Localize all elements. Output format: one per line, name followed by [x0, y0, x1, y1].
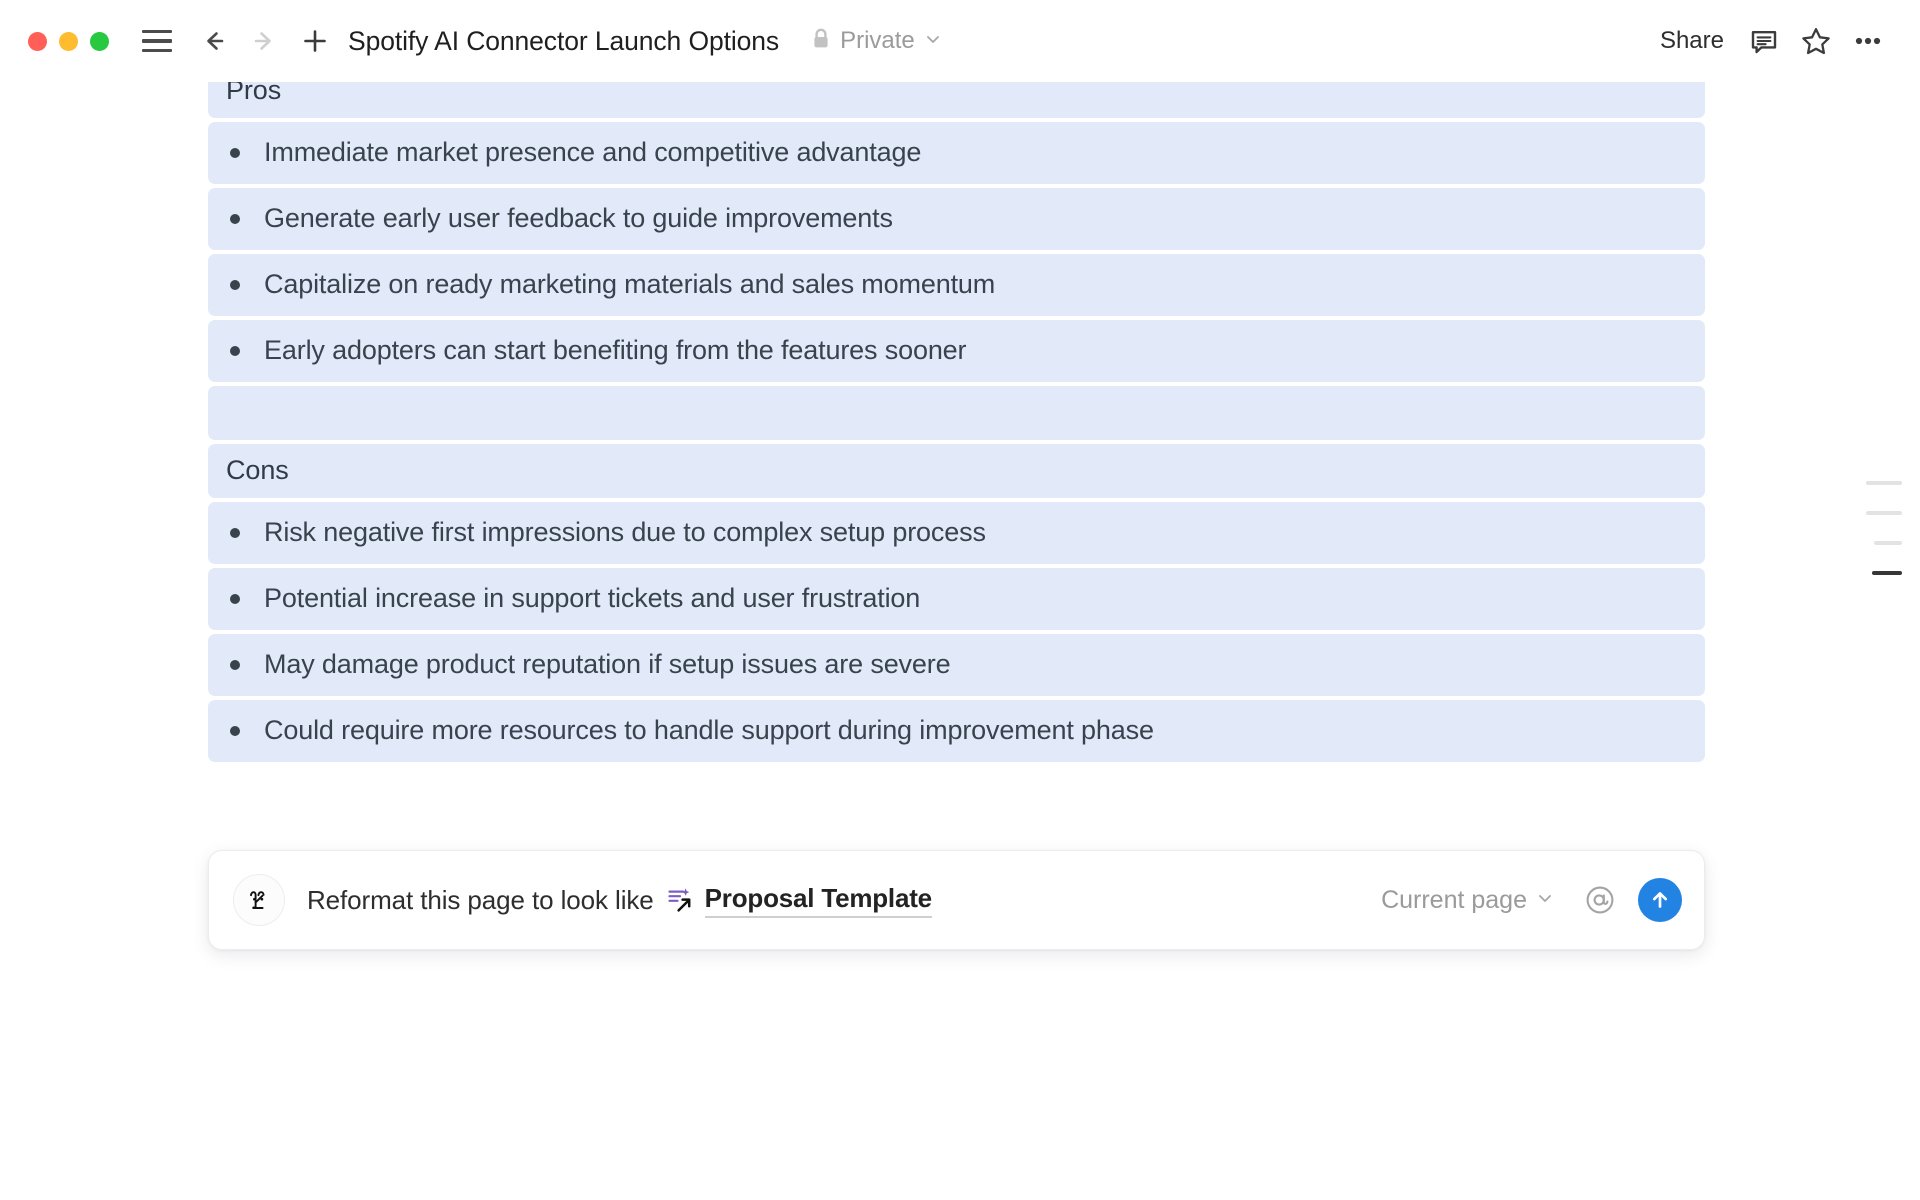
empty-block[interactable] — [208, 386, 1705, 440]
titlebar-actions: Share — [1646, 15, 1894, 67]
list-item-label: Generate early user feedback to guide im… — [264, 203, 893, 234]
mention-proposal-template[interactable]: Proposal Template — [705, 883, 932, 918]
bullet-icon — [230, 346, 240, 356]
at-mention-icon[interactable] — [1576, 876, 1624, 924]
list-item-label: Potential increase in support tickets an… — [264, 583, 920, 614]
document-scroll-area[interactable]: Pros Immediate market presence and compe… — [0, 82, 1920, 1200]
list-item-label: Could require more resources to handle s… — [264, 715, 1154, 746]
list-item[interactable]: Risk negative first impressions due to c… — [208, 502, 1705, 564]
bullet-icon — [230, 660, 240, 670]
list-item[interactable]: Could require more resources to handle s… — [208, 700, 1705, 762]
chevron-down-icon — [1536, 889, 1554, 912]
share-button[interactable]: Share — [1646, 21, 1738, 61]
app-window: Spotify AI Connector Launch Options Priv… — [0, 0, 1920, 1200]
minimap-bar — [1866, 511, 1902, 515]
navigation-controls — [196, 23, 282, 59]
comment-icon[interactable] — [1738, 15, 1790, 67]
list-item[interactable]: Potential increase in support tickets an… — [208, 568, 1705, 630]
maximize-window-button[interactable] — [90, 32, 109, 51]
bullet-icon — [230, 280, 240, 290]
list-item[interactable]: Capitalize on ready marketing materials … — [208, 254, 1705, 316]
minimap-bar — [1866, 481, 1902, 485]
ai-prompt-input[interactable]: Reformat this page to look like Proposal… — [307, 883, 1375, 918]
ai-assistant-face-icon — [233, 874, 285, 926]
minimap-row[interactable] — [1858, 528, 1902, 558]
list-item[interactable]: Early adopters can start benefiting from… — [208, 320, 1705, 382]
heading-text: Pros — [226, 82, 281, 106]
arrow-right-icon[interactable] — [246, 23, 282, 59]
close-window-button[interactable] — [28, 32, 47, 51]
list-item-label: Risk negative first impressions due to c… — [264, 517, 986, 548]
heading-text: Cons — [226, 456, 289, 486]
titlebar: Spotify AI Connector Launch Options Priv… — [0, 0, 1920, 82]
scope-label: Current page — [1381, 886, 1527, 915]
bullet-icon — [230, 528, 240, 538]
bullet-icon — [230, 148, 240, 158]
list-item-label: May damage product reputation if setup i… — [264, 649, 950, 680]
minimap-bar — [1874, 541, 1902, 545]
ai-prompt-text: Reformat this page to look like — [307, 885, 654, 916]
more-horizontal-icon[interactable] — [1842, 15, 1894, 67]
list-item-label: Immediate market presence and competitiv… — [264, 137, 921, 168]
list-item-label: Early adopters can start benefiting from… — [264, 335, 966, 366]
privacy-selector[interactable]: Private — [811, 27, 942, 56]
list-item[interactable]: Generate early user feedback to guide im… — [208, 188, 1705, 250]
heading-block-pros[interactable]: Pros — [208, 82, 1705, 118]
ai-bar-actions: Current page — [1375, 876, 1682, 924]
lock-icon — [811, 27, 831, 56]
privacy-label: Private — [840, 27, 915, 55]
minimap-row[interactable] — [1858, 498, 1902, 528]
ai-send-button[interactable] — [1638, 878, 1682, 922]
bullet-icon — [230, 726, 240, 736]
outline-minimap[interactable] — [1858, 468, 1902, 588]
document-content: Pros Immediate market presence and compe… — [208, 82, 1705, 766]
minimap-bar-active — [1872, 571, 1902, 576]
list-item[interactable]: Immediate market presence and competitiv… — [208, 122, 1705, 184]
heading-block-cons[interactable]: Cons — [208, 444, 1705, 498]
minimap-row[interactable] — [1858, 468, 1902, 498]
bullet-icon — [230, 594, 240, 604]
list-item[interactable]: May damage product reputation if setup i… — [208, 634, 1705, 696]
scope-selector[interactable]: Current page — [1375, 880, 1560, 921]
star-icon[interactable] — [1790, 15, 1842, 67]
plus-icon[interactable] — [298, 24, 332, 58]
minimize-window-button[interactable] — [59, 32, 78, 51]
chevron-down-icon — [924, 30, 942, 53]
page-title[interactable]: Spotify AI Connector Launch Options — [348, 26, 779, 57]
arrow-left-icon[interactable] — [196, 23, 232, 59]
bullet-icon — [230, 214, 240, 224]
window-controls — [28, 32, 109, 51]
minimap-row[interactable] — [1858, 558, 1902, 588]
template-sparkle-icon — [666, 885, 696, 915]
hamburger-menu-icon[interactable] — [142, 30, 172, 52]
ai-prompt-bar[interactable]: Reformat this page to look like Proposal… — [208, 850, 1705, 950]
list-item-label: Capitalize on ready marketing materials … — [264, 269, 995, 300]
